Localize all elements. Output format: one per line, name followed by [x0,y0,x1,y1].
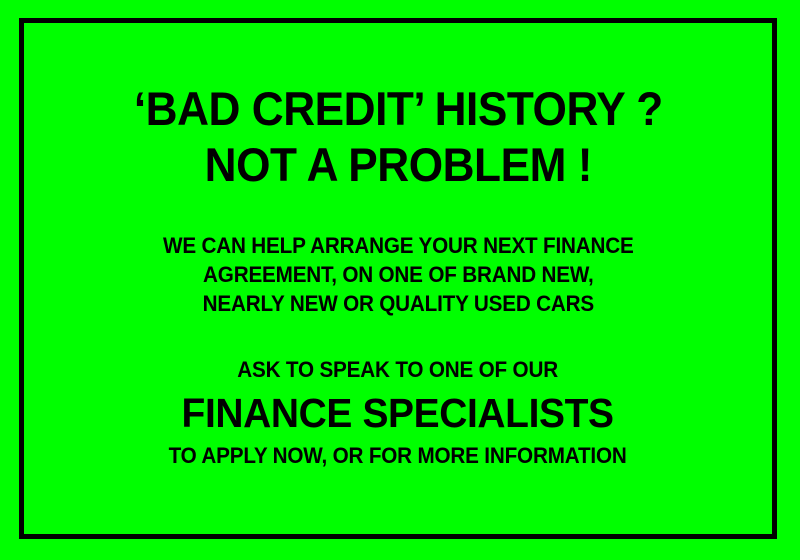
headline-line-1: ‘BAD CREDIT’ HISTORY ? [134,81,663,137]
body-line-1: WE CAN HELP ARRANGE YOUR NEXT FINANCE [163,231,634,260]
advert-poster: ‘BAD CREDIT’ HISTORY ? NOT A PROBLEM ! W… [0,0,800,560]
body-paragraph-group: WE CAN HELP ARRANGE YOUR NEXT FINANCE AG… [148,231,649,318]
poster-copy-container: ‘BAD CREDIT’ HISTORY ? NOT A PROBLEM ! W… [24,23,772,534]
headline-line-2: NOT A PROBLEM ! [134,137,663,193]
cta-footer-line: TO APPLY NOW, OR FOR MORE INFORMATION [169,441,627,471]
body-line-3: NEARLY NEW OR QUALITY USED CARS [163,289,634,318]
cta-intro-line: ASK TO SPEAK TO ONE OF OUR [169,355,627,385]
body-line-2: AGREEMENT, ON ONE OF BRAND NEW, [163,260,634,289]
cta-emphasis-line: FINANCE SPECIALISTS [167,387,630,439]
call-to-action-group: ASK TO SPEAK TO ONE OF OUR FINANCE SPECI… [154,355,641,471]
headline-group: ‘BAD CREDIT’ HISTORY ? NOT A PROBLEM ! [117,81,680,193]
